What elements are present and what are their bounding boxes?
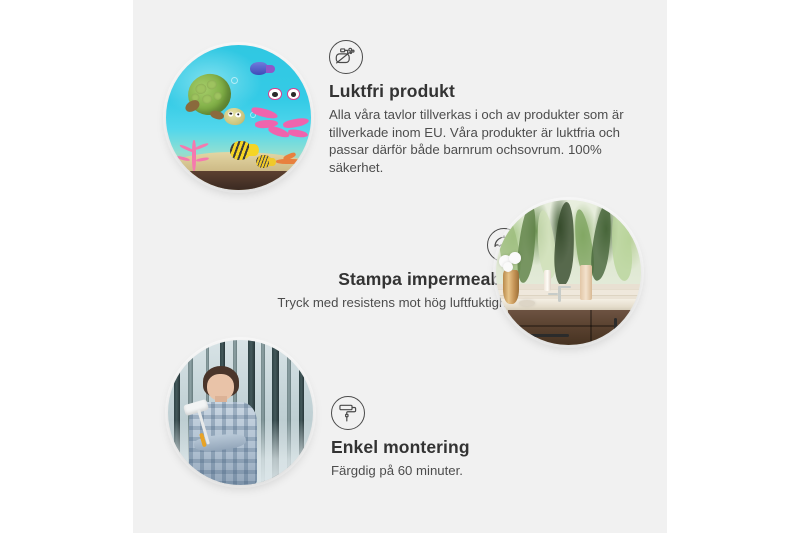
fish-purple (250, 62, 275, 75)
vase (503, 270, 519, 305)
octopus (250, 77, 311, 147)
content-panel: Luktfri produkt Alla våra tavlor tillver… (133, 0, 667, 533)
photo-bathroom-tropical-wallpaper (496, 200, 641, 345)
towel (580, 265, 592, 300)
person-painter (185, 366, 266, 485)
photo-painter-woman-forest-mural (168, 340, 313, 485)
paint-roller-icon (331, 396, 365, 430)
turtle (183, 74, 241, 126)
feature-body: Alla våra tavlor tillverkas i och av pro… (329, 106, 629, 176)
feature-title: Luktfri produkt (329, 81, 629, 101)
feature-odorless: Luktfri produkt Alla våra tavlor tillver… (329, 40, 629, 176)
feature-title: Enkel montering (331, 437, 631, 457)
soap-dish (519, 300, 535, 306)
feature-easy-mounting: Enkel montering Färgdig på 60 minuter. (331, 396, 631, 480)
feature-body: Tryck med resistens mot hög luftfuktighe… (191, 294, 521, 312)
feature-body: Färgdig på 60 minuter. (331, 462, 631, 480)
feature-waterproof: Stampa impermeabile Tryck med resistens … (191, 228, 521, 312)
coral-orange (273, 152, 305, 175)
photo-underwater-kids-mural (166, 45, 311, 190)
fish-yellow-striped (230, 141, 259, 160)
no-perfume-spray-icon (329, 40, 363, 74)
coral-pink (173, 132, 219, 176)
feature-title: Stampa impermeabile (191, 269, 521, 289)
bottle (544, 270, 551, 292)
page-root: Luktfri produkt Alla våra tavlor tillver… (0, 0, 800, 533)
